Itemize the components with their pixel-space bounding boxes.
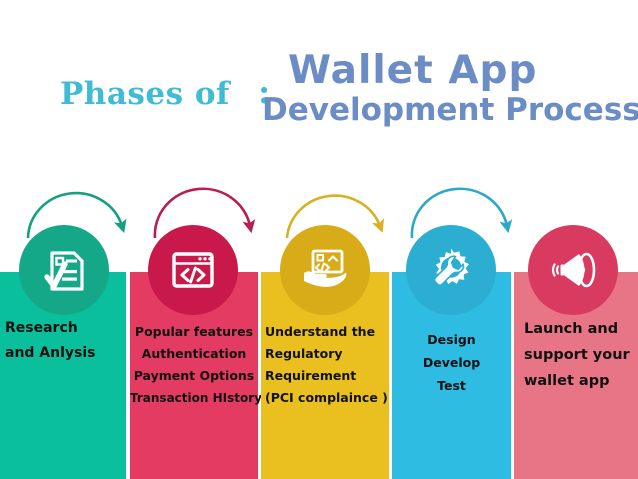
phase-label-line: wallet app xyxy=(524,368,638,394)
page-title-left: Phases of xyxy=(60,76,230,112)
phase-label-line: Research xyxy=(5,316,126,341)
phase-label-line: (PCI complaince ) xyxy=(265,387,389,409)
arrow-connector-2 xyxy=(155,189,250,238)
phase-label-line: Regulatory xyxy=(265,343,389,365)
phase-panel-launch-and-support[interactable]: Launch and support your wallet app xyxy=(514,272,638,479)
page-title-main: Wallet App xyxy=(288,48,537,93)
phase-label-line: Design xyxy=(392,328,511,351)
phase-panel-design-develop-test[interactable]: Design Develop Test xyxy=(392,272,511,479)
phase-panels: Research and Anlysis Popular features Au… xyxy=(0,272,638,479)
title-block: Phases of : Wallet App Development Proce… xyxy=(0,48,638,158)
phase-label-line: Develop xyxy=(392,351,511,374)
phase-label-line: Popular features xyxy=(130,321,258,343)
phase-label-line: Transaction HIstory xyxy=(130,387,258,409)
page-title-sub: Development Process xyxy=(262,92,638,128)
phase-panel-regulatory-requirement[interactable]: Understand the Regulatory Requirement (P… xyxy=(261,272,389,479)
arrow-flow-layer xyxy=(0,160,638,255)
phase-label-line: support your xyxy=(524,342,638,368)
arrow-connector-3 xyxy=(287,196,380,238)
phase-label-line: Payment Options xyxy=(130,365,258,387)
phase-panel-popular-features[interactable]: Popular features Authentication Payment … xyxy=(130,272,258,479)
phase-label-line: Understand the xyxy=(265,321,389,343)
arrow-connector-1 xyxy=(28,193,122,238)
phase-label-line: Requirement xyxy=(265,365,389,387)
phase-label-line: Test xyxy=(392,374,511,397)
infographic-canvas: Phases of : Wallet App Development Proce… xyxy=(0,0,638,479)
phase-label-line: Authentication xyxy=(130,343,258,365)
phase-label-line: Launch and xyxy=(524,316,638,342)
phase-panel-research-and-analysis[interactable]: Research and Anlysis xyxy=(0,272,126,479)
arrow-connector-4 xyxy=(412,189,507,238)
phase-label-line: and Anlysis xyxy=(5,341,126,366)
